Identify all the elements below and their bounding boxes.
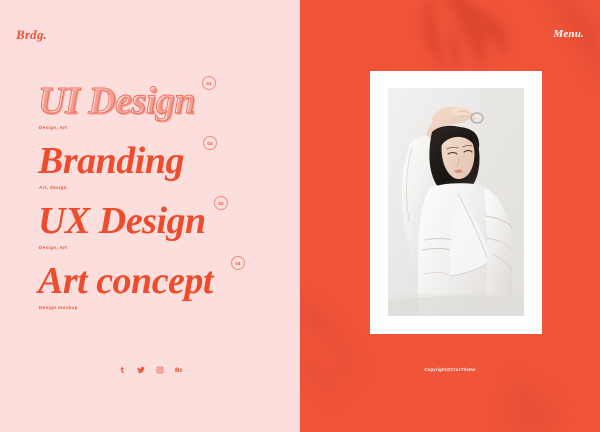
menu-button[interactable]: Menu. bbox=[553, 28, 584, 40]
behance-icon[interactable] bbox=[175, 366, 183, 374]
nav-item-badge: 04 bbox=[231, 256, 245, 270]
nav-item-label[interactable]: UX Design bbox=[38, 200, 206, 242]
nav-item-label[interactable]: Branding bbox=[38, 140, 184, 182]
social-links bbox=[0, 366, 300, 374]
portrait-photo bbox=[388, 88, 524, 316]
nav-item-caption: Design, Art bbox=[39, 125, 67, 130]
nav-item-badge: 03 bbox=[214, 196, 228, 210]
nav-item-label[interactable]: Art concept bbox=[38, 260, 213, 302]
nav-item-badge: 01 bbox=[202, 76, 216, 90]
nav-item-caption: Design mockup bbox=[39, 305, 78, 310]
nav-menu-list: UI Design 01 Design, Art Branding 02 Art… bbox=[0, 80, 300, 320]
nav-item-art-concept[interactable]: Art concept 04 Design mockup bbox=[0, 260, 300, 320]
nav-item-ux-design[interactable]: UX Design 03 Design, Art bbox=[0, 200, 300, 260]
page-root: Brdg. UI Design 01 Design, Art Branding … bbox=[0, 0, 600, 432]
nav-item-label[interactable]: UI Design bbox=[38, 80, 195, 122]
portrait-woman-illustration bbox=[388, 88, 524, 316]
tumblr-icon[interactable] bbox=[118, 366, 126, 374]
photo-frame bbox=[370, 71, 542, 334]
copyright-text: Copyright@CrazTheme bbox=[300, 367, 600, 372]
nav-item-branding[interactable]: Branding 02 Art, design bbox=[0, 140, 300, 200]
right-panel: Menu. bbox=[300, 0, 600, 432]
nav-item-badge: 02 bbox=[203, 136, 217, 150]
nav-item-caption: Design, Art bbox=[39, 245, 67, 250]
nav-item-caption: Art, design bbox=[39, 185, 67, 190]
instagram-icon[interactable] bbox=[156, 366, 164, 374]
nav-item-ui-design[interactable]: UI Design 01 Design, Art bbox=[0, 80, 300, 140]
twitter-icon[interactable] bbox=[137, 366, 145, 374]
brand-logo[interactable]: Brdg. bbox=[16, 27, 47, 43]
left-panel: Brdg. UI Design 01 Design, Art Branding … bbox=[0, 0, 300, 432]
